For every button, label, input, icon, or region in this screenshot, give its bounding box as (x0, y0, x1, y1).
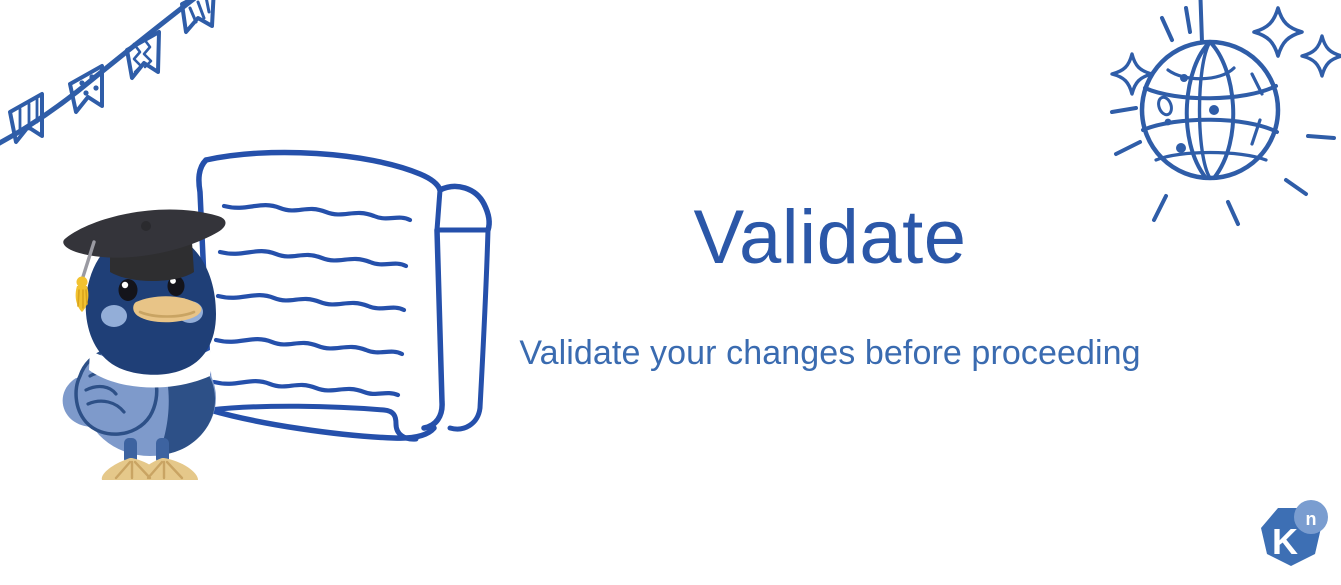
knative-logo: K n (1248, 498, 1332, 578)
disco-ball-icon (1110, 0, 1341, 230)
logo-letter-k: K (1272, 521, 1298, 562)
text-block: Validate Validate your changes before pr… (460, 198, 1200, 373)
page-subtitle: Validate your changes before proceeding (460, 333, 1200, 374)
logo-letter-n: n (1306, 509, 1317, 529)
slide-canvas: Validate Validate your changes before pr… (0, 0, 1341, 585)
page-title: Validate (460, 198, 1200, 279)
illustration-group (48, 138, 468, 478)
bird-mascot-icon (58, 190, 238, 480)
